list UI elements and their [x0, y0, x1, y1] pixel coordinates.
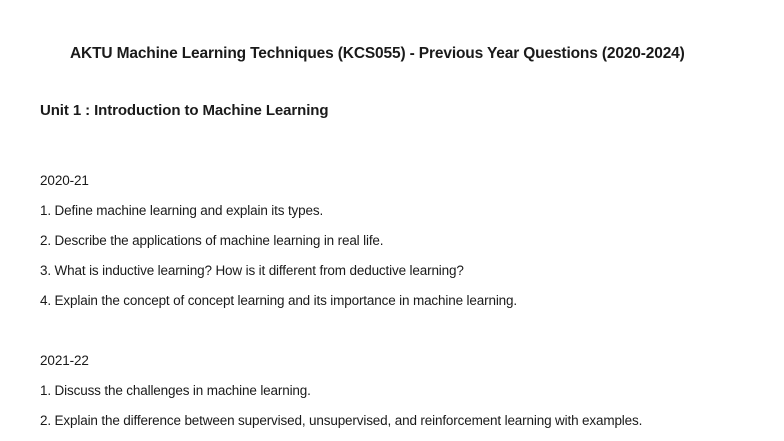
- question-item: 1. Discuss the challenges in machine lea…: [40, 382, 764, 400]
- section-2020-21: 2020-21 1. Define machine learning and e…: [40, 172, 764, 310]
- section-2021-22: 2021-22 1. Discuss the challenges in mac…: [40, 352, 764, 430]
- question-item: 4. Explain the concept of concept learni…: [40, 292, 764, 310]
- year-label-2020-21: 2020-21: [40, 172, 764, 190]
- page-title: AKTU Machine Learning Techniques (KCS055…: [70, 44, 685, 64]
- question-item: 2. Explain the difference between superv…: [40, 412, 764, 430]
- year-label-2021-22: 2021-22: [40, 352, 764, 370]
- question-item: 3. What is inductive learning? How is it…: [40, 262, 764, 280]
- question-item: 2. Describe the applications of machine …: [40, 232, 764, 250]
- unit-heading: Unit 1 : Introduction to Machine Learnin…: [40, 101, 328, 121]
- document-page: AKTU Machine Learning Techniques (KCS055…: [0, 0, 784, 441]
- question-item: 1. Define machine learning and explain i…: [40, 202, 764, 220]
